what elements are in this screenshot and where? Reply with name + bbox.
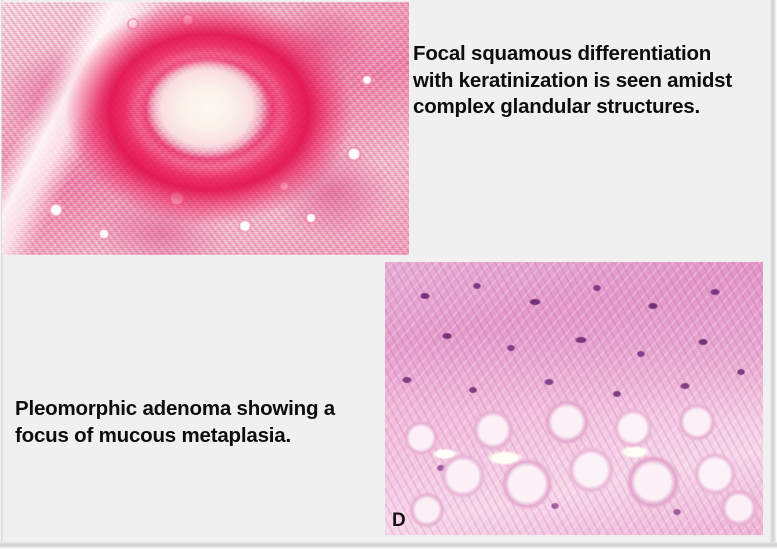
slide-edge-right: [770, 0, 777, 549]
caption-squamous-differentiation: Focal squamous differentiation with kera…: [413, 41, 765, 121]
slide-edge-bottom: [0, 542, 777, 549]
presentation-slide: Focal squamous differentiation with kera…: [0, 0, 777, 549]
micrograph-mucous-metaplasia: D: [385, 262, 763, 535]
panel-letter-label: D: [392, 511, 406, 530]
micrograph-squamous-differentiation: [2, 2, 409, 255]
caption-pleomorphic-adenoma: Pleomorphic adenoma showing a focus of m…: [15, 396, 375, 449]
